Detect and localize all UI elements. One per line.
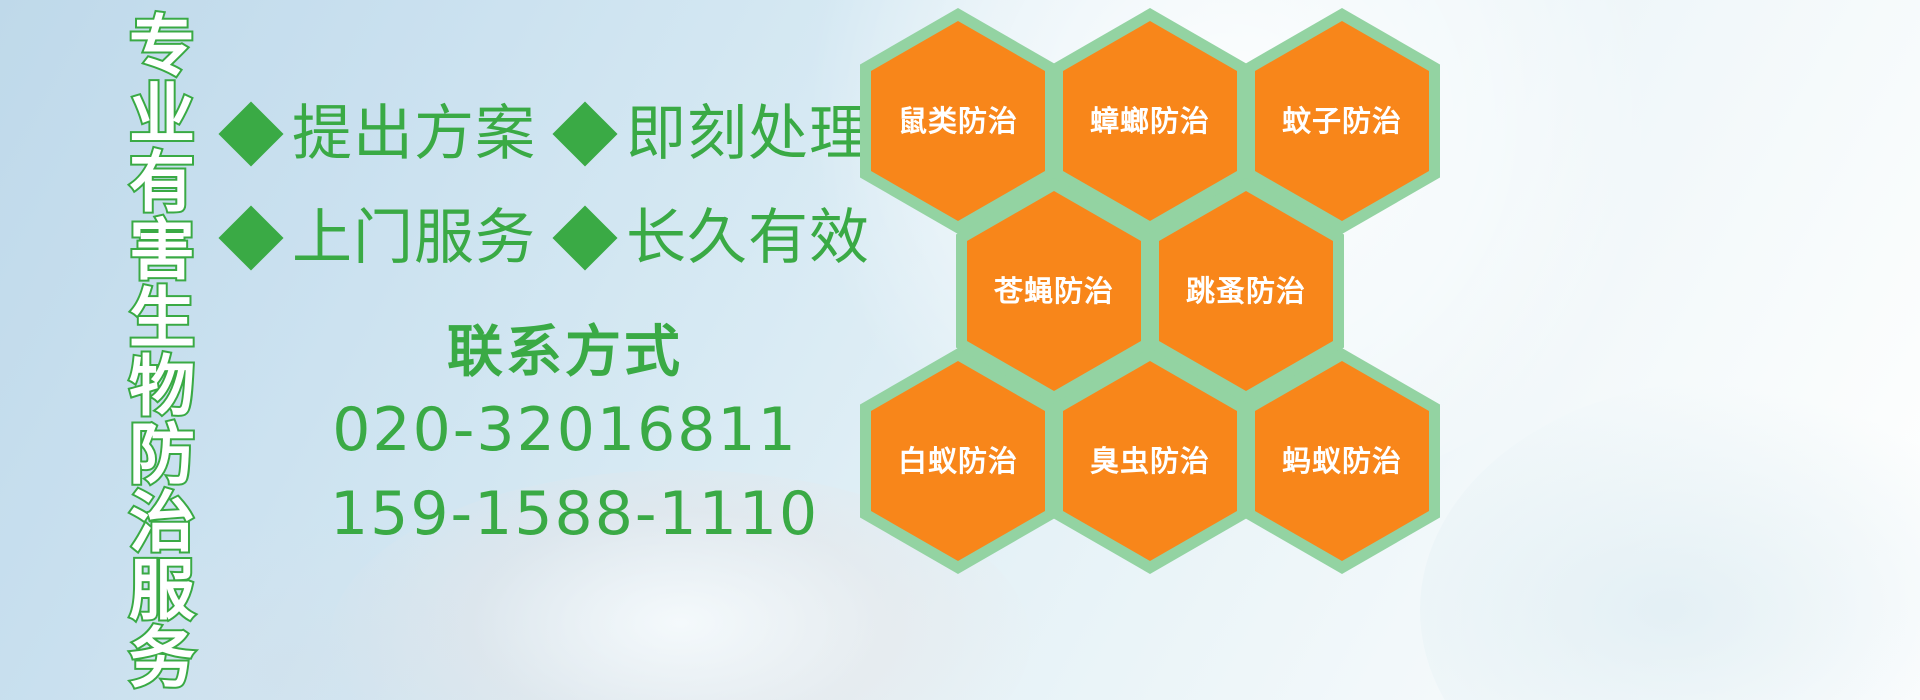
- feature-label: 即刻处理: [626, 104, 870, 164]
- vertical-headline-char: 治: [129, 490, 195, 556]
- feature-list: 提出方案 即刻处理 上门服务 长久有效: [228, 82, 868, 290]
- diamond-icon: [552, 101, 617, 166]
- service-hex-termite[interactable]: 白蚁防治: [860, 348, 1056, 574]
- vertical-headline-char: 害: [129, 218, 195, 284]
- feature-label: 长久有效: [626, 208, 870, 268]
- vertical-headline-char: 业: [129, 82, 195, 148]
- service-label: 臭虫防治: [1090, 445, 1210, 477]
- service-honeycomb: 鼠类防治 蟑螂防治 蚊子防治 苍蝇防治 跳蚤防治 白蚁防治: [860, 0, 1460, 700]
- service-label: 白蚁防治: [898, 445, 1018, 477]
- feature-item: 长久有效: [562, 208, 870, 268]
- vertical-headline-char: 有: [129, 150, 195, 216]
- contact-phone-mobile[interactable]: 159-1588-1110: [330, 472, 800, 556]
- diamond-icon: [552, 205, 617, 270]
- vertical-headline-char: 务: [129, 626, 195, 692]
- diamond-icon: [218, 205, 283, 270]
- vertical-headline-char: 物: [129, 354, 195, 420]
- service-label: 蚂蚁防治: [1282, 445, 1402, 477]
- vertical-headline-char: 生: [129, 286, 195, 352]
- service-label: 蟑螂防治: [1090, 105, 1210, 137]
- contact-phone-landline[interactable]: 020-32016811: [330, 388, 800, 472]
- feature-row: 提出方案 即刻处理: [228, 82, 868, 186]
- feature-item: 即刻处理: [562, 104, 870, 164]
- service-label: 苍蝇防治: [994, 275, 1114, 307]
- feature-item: 上门服务: [228, 208, 536, 268]
- feature-label: 提出方案: [292, 104, 536, 164]
- service-label: 跳蚤防治: [1186, 275, 1306, 307]
- diamond-icon: [218, 101, 283, 166]
- feature-label: 上门服务: [292, 208, 536, 268]
- feature-row: 上门服务 长久有效: [228, 186, 868, 290]
- service-label: 蚊子防治: [1282, 105, 1402, 137]
- promo-banner: 专 业 有 害 生 物 防 治 服 务 提出方案 即刻处理 上门服务: [0, 0, 1920, 700]
- vertical-headline-char: 服: [129, 558, 195, 624]
- service-hex-bedbug[interactable]: 臭虫防治: [1052, 348, 1248, 574]
- service-label: 鼠类防治: [898, 105, 1018, 137]
- contact-title: 联系方式: [330, 318, 800, 388]
- vertical-headline: 专 业 有 害 生 物 防 治 服 务: [110, 14, 214, 694]
- vertical-headline-char: 防: [129, 422, 195, 488]
- background-glow-right: [1420, 380, 1920, 700]
- vertical-headline-char: 专: [129, 14, 195, 80]
- contact-block: 联系方式 020-32016811 159-1588-1110: [330, 318, 800, 556]
- service-hex-ant[interactable]: 蚂蚁防治: [1244, 348, 1440, 574]
- feature-item: 提出方案: [228, 104, 536, 164]
